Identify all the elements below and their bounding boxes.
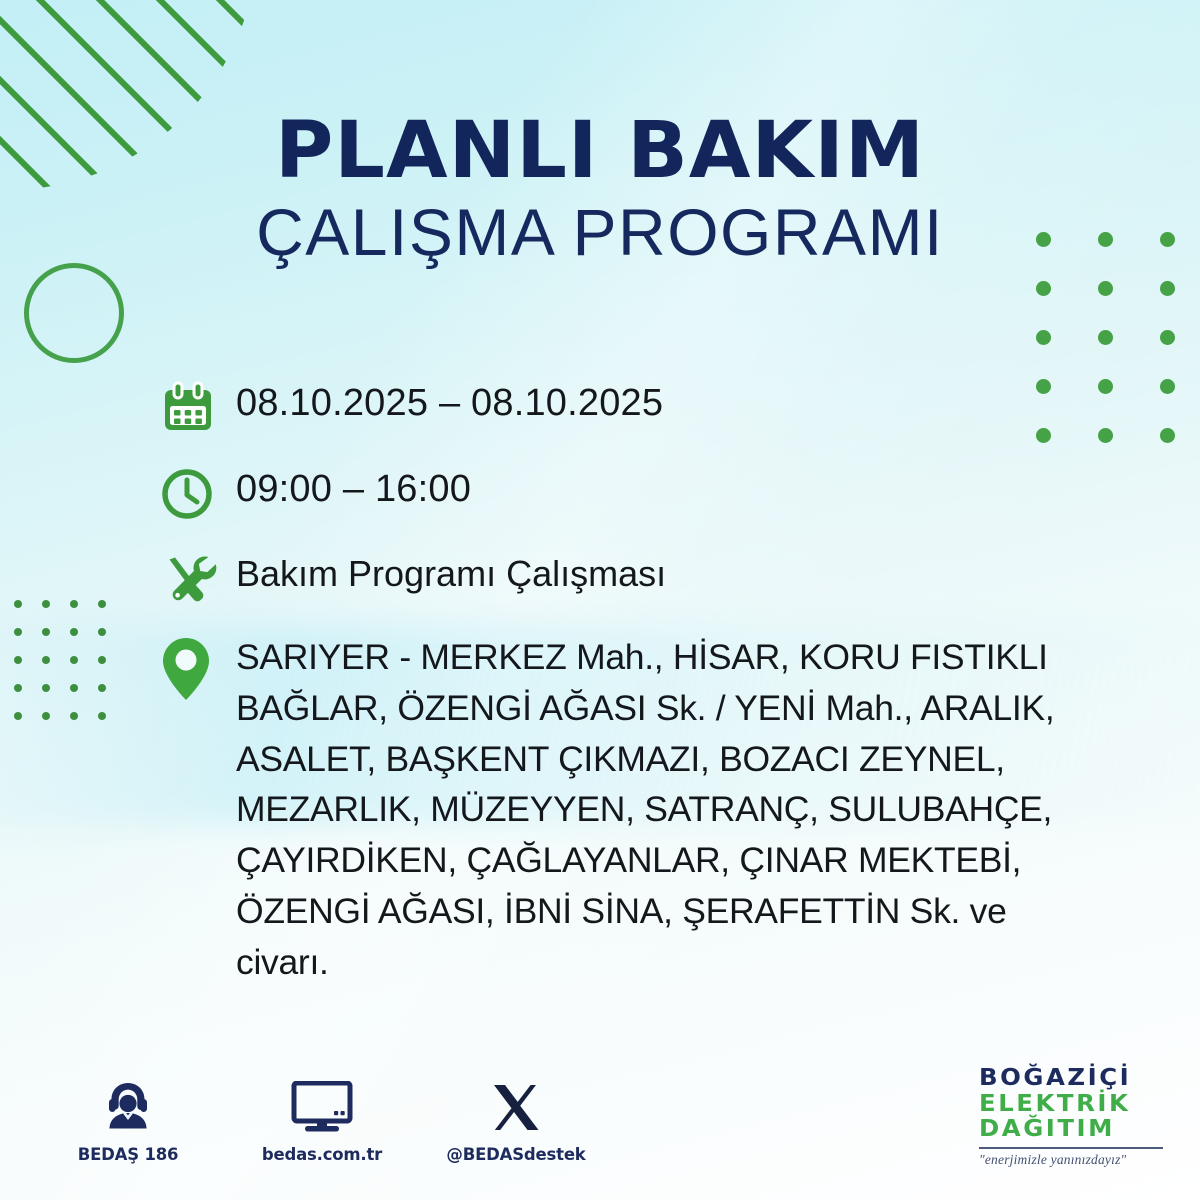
contact-phone-label: BEDAŞ 186 — [78, 1145, 179, 1164]
page-title: PLANLI BAKIM — [0, 112, 1200, 190]
page-subtitle: ÇALIŞMA PROGRAMI — [0, 198, 1200, 267]
poster-title-block: PLANLI BAKIM ÇALIŞMA PROGRAMI — [0, 112, 1200, 267]
brand-line-bogazici: BOĞAZİÇİ — [979, 1066, 1196, 1092]
date-range-text: 08.10.2025 – 08.10.2025 — [236, 378, 663, 422]
info-list: 08.10.2025 – 08.10.2025 09:00 – 16:00 — [160, 378, 1120, 987]
location-pin-icon — [160, 632, 236, 706]
work-type-text: Bakım Programı Çalışması — [236, 550, 666, 592]
brand-slogan: "enerjimizle yanınızdayız" — [979, 1152, 1184, 1168]
contact-website[interactable]: bedas.com.tr — [252, 1075, 392, 1164]
contact-x-twitter[interactable]: @BEDASdestek — [446, 1075, 586, 1164]
circle-outline-decoration — [24, 263, 124, 363]
contact-x-label: @BEDASdestek — [446, 1145, 585, 1164]
brand-line-elektrik: ELEKTRİK — [979, 1092, 1196, 1118]
headset-support-icon — [101, 1075, 155, 1133]
info-row-date: 08.10.2025 – 08.10.2025 — [160, 378, 1120, 438]
tools-icon — [160, 550, 236, 610]
info-row-time: 09:00 – 16:00 — [160, 464, 1120, 524]
clock-icon — [160, 464, 236, 524]
brand-line-dagitim: DAĞITIM — [979, 1117, 1196, 1143]
contact-list: BEDAŞ 186 bedas.com.tr — [58, 1075, 586, 1164]
contact-website-label: bedas.com.tr — [262, 1145, 382, 1164]
contact-phone[interactable]: BEDAŞ 186 — [58, 1075, 198, 1164]
brand-divider — [979, 1147, 1163, 1149]
calendar-icon — [160, 378, 236, 438]
brand-logo: BOĞAZİÇİ ELEKTRİK DAĞITIM "enerjimizle y… — [979, 1066, 1184, 1168]
x-twitter-icon — [491, 1075, 541, 1133]
dot-grid-left-decoration — [14, 600, 126, 740]
monitor-website-icon — [291, 1075, 353, 1133]
address-text: SARIYER - MERKEZ Mah., HİSAR, KORU FISTI… — [236, 632, 1066, 987]
time-range-text: 09:00 – 16:00 — [236, 464, 471, 508]
info-row-work: Bakım Programı Çalışması — [160, 550, 1120, 610]
info-row-address: SARIYER - MERKEZ Mah., HİSAR, KORU FISTI… — [160, 632, 1120, 987]
footer: BEDAŞ 186 bedas.com.tr — [0, 1030, 1200, 1200]
poster-canvas: PLANLI BAKIM ÇALIŞMA PROGRAMI — [0, 0, 1200, 1200]
